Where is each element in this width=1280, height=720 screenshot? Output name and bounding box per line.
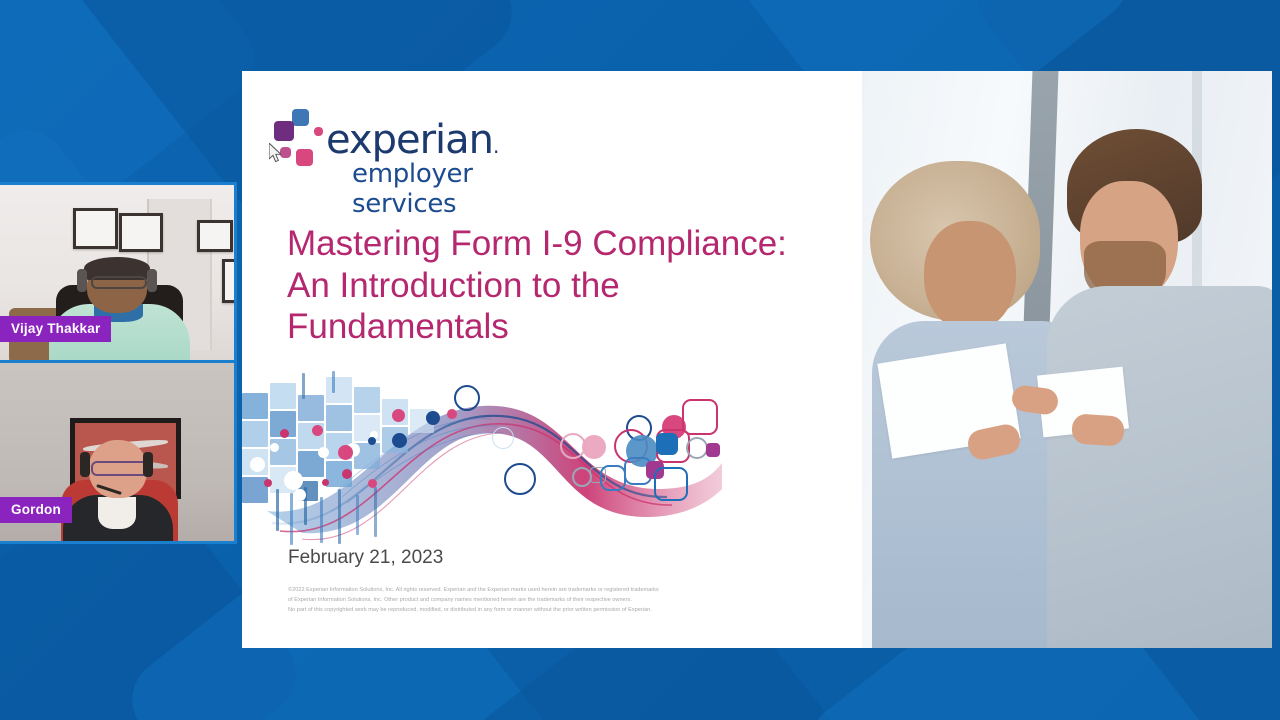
- experian-employer-services-logo: experian. employer services: [274, 103, 534, 203]
- video-tile-gordon[interactable]: Gordon: [0, 360, 237, 544]
- slide-photo-colleagues: [862, 71, 1272, 648]
- cluster-square-pink: [682, 399, 718, 435]
- mosaic-streak: [338, 489, 341, 544]
- person-shirt: [98, 497, 135, 529]
- wave-dot-white: [250, 457, 265, 472]
- logo-square-pink-small: [314, 127, 323, 136]
- slide-date: February 21, 2023: [288, 547, 443, 569]
- cluster-square-blue: [654, 467, 688, 501]
- mosaic-streak: [374, 487, 377, 537]
- woman-face: [924, 221, 1016, 331]
- shared-slide[interactable]: experian. employer services Mastering Fo…: [242, 71, 1272, 648]
- wave-dot-white: [294, 489, 306, 501]
- wave-dot-pink: [447, 409, 457, 419]
- person-glasses: [91, 461, 149, 476]
- wave-dot-pink: [264, 479, 272, 487]
- wave-dot-navy: [426, 411, 440, 425]
- legal-line: ©2022 Experian Information Solutions, In…: [288, 586, 778, 596]
- wall-picture-frame: [222, 259, 237, 304]
- mouse-pointer: [269, 143, 285, 165]
- title-line: Mastering Form I-9 Compliance:: [287, 223, 887, 265]
- mosaic-streak: [320, 497, 323, 543]
- headset-earpiece: [80, 452, 91, 477]
- slide-title: Mastering Form I-9 Compliance: An Introd…: [287, 223, 887, 348]
- wave-dot-pink: [338, 445, 353, 460]
- wave-dot-pink: [392, 409, 405, 422]
- wave-dot-pink: [342, 469, 352, 479]
- wave-dot-white: [270, 443, 279, 452]
- wave-dot-white: [284, 471, 303, 490]
- mosaic-pixel: [326, 405, 352, 431]
- mosaic-streak: [332, 371, 335, 393]
- mosaic-pixel: [242, 421, 268, 447]
- wall-picture-frame: [119, 213, 162, 252]
- mosaic-streak: [276, 489, 279, 531]
- cluster-square-blue-filled: [656, 433, 678, 455]
- wave-dot-pink: [322, 479, 329, 486]
- wall-picture-frame: [197, 220, 233, 252]
- participant-name-badge: Vijay Thakkar: [0, 316, 111, 342]
- wave-dot-pink: [280, 429, 289, 438]
- legal-line: of Experian Information Solutions, Inc. …: [288, 596, 778, 606]
- cluster-square-blue: [600, 465, 626, 491]
- video-tile-vijay-thakkar[interactable]: Vijay Thakkar: [0, 182, 237, 363]
- logo-square-purple: [274, 121, 294, 141]
- wave-dot-white: [318, 447, 329, 458]
- mosaic-pixel: [326, 377, 352, 403]
- legal-line: No part of this copyrighted work may be …: [288, 606, 778, 616]
- slide-legal-text: ©2022 Experian Information Solutions, In…: [288, 586, 778, 615]
- wave-ring-navy: [504, 463, 536, 495]
- wave-dot-navy: [368, 437, 376, 445]
- headset-earpiece: [147, 269, 156, 292]
- wave-dot-pink: [368, 479, 377, 488]
- wall-picture-frame: [73, 208, 119, 249]
- mosaic-pixel: [354, 387, 380, 413]
- wave-ring-navy: [454, 385, 480, 411]
- logo-square-magenta: [296, 149, 313, 166]
- logo-wordmark: experian.: [326, 117, 498, 163]
- man-grey-shirt: [1047, 286, 1272, 648]
- mosaic-streak: [290, 493, 293, 545]
- mosaic-pixel: [242, 393, 268, 419]
- mosaic-pixel: [270, 383, 296, 409]
- logo-square-blue: [292, 109, 309, 126]
- wave-ring-light: [492, 427, 514, 449]
- person-glasses: [91, 276, 146, 289]
- decorative-data-wave: [242, 371, 742, 546]
- wave-dot-pink: [312, 425, 323, 436]
- wave-ring-grey: [572, 467, 592, 487]
- wave-ring-pink: [560, 433, 586, 459]
- cluster-square-purple: [706, 443, 720, 457]
- headset-earpiece: [143, 452, 154, 477]
- logo-tagline: employer services: [352, 159, 534, 219]
- title-line: Fundamentals: [287, 306, 887, 348]
- headset-earpiece: [77, 269, 86, 292]
- mosaic-streak: [356, 495, 359, 535]
- cluster-ring-grey: [686, 437, 708, 459]
- title-line: An Introduction to the: [287, 265, 887, 307]
- participant-name-badge: Gordon: [0, 497, 72, 523]
- mosaic-streak: [302, 373, 305, 399]
- man-hand: [1071, 413, 1125, 447]
- wave-dot-navy: [392, 433, 407, 448]
